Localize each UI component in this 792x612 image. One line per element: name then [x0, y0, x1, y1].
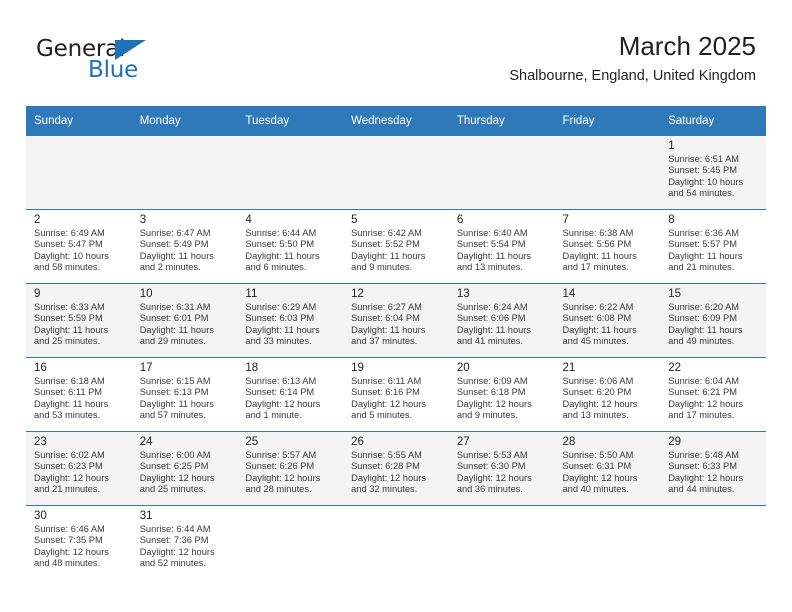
- day-sun-info: Sunrise: 6:22 AMSunset: 6:08 PMDaylight:…: [563, 302, 655, 348]
- sunrise-time: Sunrise: 6:46 AM: [34, 524, 126, 535]
- day-number: 6: [457, 213, 549, 227]
- sunset-time: Sunset: 6:21 PM: [668, 387, 760, 398]
- calendar-day-cell[interactable]: 27Sunrise: 5:53 AMSunset: 6:30 PMDayligh…: [449, 432, 555, 506]
- daylight-duration-line1: Daylight: 11 hours: [563, 251, 655, 262]
- day-cell-content: 22Sunrise: 6:04 AMSunset: 6:21 PMDayligh…: [660, 358, 766, 428]
- calendar-day-cell: [449, 506, 555, 580]
- day-sun-info: Sunrise: 6:27 AMSunset: 6:04 PMDaylight:…: [351, 302, 443, 348]
- daylight-duration-line2: and 49 minutes.: [668, 336, 760, 347]
- day-cell-content: 13Sunrise: 6:24 AMSunset: 6:06 PMDayligh…: [449, 284, 555, 354]
- sunset-time: Sunset: 6:30 PM: [457, 461, 549, 472]
- sunrise-time: Sunrise: 6:09 AM: [457, 376, 549, 387]
- day-sun-info: Sunrise: 6:33 AMSunset: 5:59 PMDaylight:…: [34, 302, 126, 348]
- day-cell-content: 23Sunrise: 6:02 AMSunset: 6:23 PMDayligh…: [26, 432, 132, 502]
- weekday-header-sunday: Sunday: [26, 106, 132, 136]
- daylight-duration-line1: Daylight: 11 hours: [140, 251, 232, 262]
- daylight-duration-line1: Daylight: 12 hours: [245, 473, 337, 484]
- calendar-table: Sunday Monday Tuesday Wednesday Thursday…: [26, 106, 766, 579]
- calendar-day-cell[interactable]: 12Sunrise: 6:27 AMSunset: 6:04 PMDayligh…: [343, 284, 449, 358]
- sunrise-time: Sunrise: 6:44 AM: [245, 228, 337, 239]
- sunrise-time: Sunrise: 6:31 AM: [140, 302, 232, 313]
- day-sun-info: Sunrise: 5:50 AMSunset: 6:31 PMDaylight:…: [563, 450, 655, 496]
- sunset-time: Sunset: 5:50 PM: [245, 239, 337, 250]
- day-cell-content: 29Sunrise: 5:48 AMSunset: 6:33 PMDayligh…: [660, 432, 766, 502]
- day-sun-info: Sunrise: 6:04 AMSunset: 6:21 PMDaylight:…: [668, 376, 760, 422]
- day-number: 26: [351, 435, 443, 449]
- day-number: 13: [457, 287, 549, 301]
- calendar-day-cell[interactable]: 5Sunrise: 6:42 AMSunset: 5:52 PMDaylight…: [343, 210, 449, 284]
- sunrise-time: Sunrise: 6:29 AM: [245, 302, 337, 313]
- daylight-duration-line2: and 36 minutes.: [457, 484, 549, 495]
- daylight-duration-line2: and 25 minutes.: [140, 484, 232, 495]
- sunrise-time: Sunrise: 6:42 AM: [351, 228, 443, 239]
- sunrise-time: Sunrise: 5:50 AM: [563, 450, 655, 461]
- day-number: 5: [351, 213, 443, 227]
- day-number: 18: [245, 361, 337, 375]
- sunrise-time: Sunrise: 6:20 AM: [668, 302, 760, 313]
- day-sun-info: Sunrise: 5:53 AMSunset: 6:30 PMDaylight:…: [457, 450, 549, 496]
- daylight-duration-line2: and 33 minutes.: [245, 336, 337, 347]
- sunset-time: Sunset: 6:23 PM: [34, 461, 126, 472]
- sunrise-time: Sunrise: 6:24 AM: [457, 302, 549, 313]
- day-sun-info: Sunrise: 6:46 AMSunset: 7:35 PMDaylight:…: [34, 524, 126, 570]
- sunrise-time: Sunrise: 6:00 AM: [140, 450, 232, 461]
- sunrise-time: Sunrise: 6:49 AM: [34, 228, 126, 239]
- day-number: 19: [351, 361, 443, 375]
- calendar-day-cell[interactable]: 19Sunrise: 6:11 AMSunset: 6:16 PMDayligh…: [343, 358, 449, 432]
- day-cell-content: [237, 506, 343, 576]
- day-cell-content: [660, 506, 766, 576]
- sunset-time: Sunset: 6:16 PM: [351, 387, 443, 398]
- calendar-week-row: 16Sunrise: 6:18 AMSunset: 6:11 PMDayligh…: [26, 358, 766, 432]
- day-number: 2: [34, 213, 126, 227]
- day-cell-content: [237, 136, 343, 206]
- calendar-day-cell[interactable]: 6Sunrise: 6:40 AMSunset: 5:54 PMDaylight…: [449, 210, 555, 284]
- day-cell-content: 20Sunrise: 6:09 AMSunset: 6:18 PMDayligh…: [449, 358, 555, 428]
- day-cell-content: 5Sunrise: 6:42 AMSunset: 5:52 PMDaylight…: [343, 210, 449, 280]
- weekday-header-saturday: Saturday: [660, 106, 766, 136]
- sunrise-time: Sunrise: 6:11 AM: [351, 376, 443, 387]
- day-sun-info: Sunrise: 6:00 AMSunset: 6:25 PMDaylight:…: [140, 450, 232, 496]
- day-cell-content: [449, 506, 555, 576]
- title-block: March 2025 Shalbourne, England, United K…: [509, 30, 756, 86]
- day-sun-info: Sunrise: 6:40 AMSunset: 5:54 PMDaylight:…: [457, 228, 549, 274]
- sunrise-time: Sunrise: 5:53 AM: [457, 450, 549, 461]
- sunrise-time: Sunrise: 6:22 AM: [563, 302, 655, 313]
- page-header: General Blue March 2025 Shalbourne, Engl…: [0, 0, 792, 105]
- day-cell-content: 15Sunrise: 6:20 AMSunset: 6:09 PMDayligh…: [660, 284, 766, 354]
- day-sun-info: Sunrise: 5:48 AMSunset: 6:33 PMDaylight:…: [668, 450, 760, 496]
- calendar-day-cell: [237, 506, 343, 580]
- day-cell-content: 3Sunrise: 6:47 AMSunset: 5:49 PMDaylight…: [132, 210, 238, 280]
- daylight-duration-line1: Daylight: 11 hours: [668, 325, 760, 336]
- day-cell-content: [449, 136, 555, 206]
- calendar-day-cell[interactable]: 1Sunrise: 6:51 AMSunset: 5:45 PMDaylight…: [660, 136, 766, 210]
- calendar-day-cell[interactable]: 24Sunrise: 6:00 AMSunset: 6:25 PMDayligh…: [132, 432, 238, 506]
- day-number: 8: [668, 213, 760, 227]
- sunset-time: Sunset: 6:33 PM: [668, 461, 760, 472]
- calendar-day-cell[interactable]: 14Sunrise: 6:22 AMSunset: 6:08 PMDayligh…: [555, 284, 661, 358]
- day-sun-info: Sunrise: 6:47 AMSunset: 5:49 PMDaylight:…: [140, 228, 232, 274]
- calendar-day-cell[interactable]: 11Sunrise: 6:29 AMSunset: 6:03 PMDayligh…: [237, 284, 343, 358]
- calendar-day-cell[interactable]: 15Sunrise: 6:20 AMSunset: 6:09 PMDayligh…: [660, 284, 766, 358]
- calendar-day-cell[interactable]: 31Sunrise: 6:44 AMSunset: 7:36 PMDayligh…: [132, 506, 238, 580]
- daylight-duration-line1: Daylight: 12 hours: [668, 473, 760, 484]
- day-sun-info: Sunrise: 6:49 AMSunset: 5:47 PMDaylight:…: [34, 228, 126, 274]
- daylight-duration-line1: Daylight: 11 hours: [457, 251, 549, 262]
- daylight-duration-line2: and 58 minutes.: [34, 262, 126, 273]
- daylight-duration-line1: Daylight: 11 hours: [34, 325, 126, 336]
- day-sun-info: Sunrise: 6:51 AMSunset: 5:45 PMDaylight:…: [668, 154, 760, 200]
- day-sun-info: Sunrise: 6:24 AMSunset: 6:06 PMDaylight:…: [457, 302, 549, 348]
- sunrise-time: Sunrise: 6:40 AM: [457, 228, 549, 239]
- day-cell-content: [555, 136, 661, 206]
- daylight-duration-line2: and 21 minutes.: [668, 262, 760, 273]
- calendar-day-cell[interactable]: 16Sunrise: 6:18 AMSunset: 6:11 PMDayligh…: [26, 358, 132, 432]
- day-number: 15: [668, 287, 760, 301]
- calendar-week-row: 23Sunrise: 6:02 AMSunset: 6:23 PMDayligh…: [26, 432, 766, 506]
- sunset-time: Sunset: 6:28 PM: [351, 461, 443, 472]
- day-cell-content: 1Sunrise: 6:51 AMSunset: 5:45 PMDaylight…: [660, 136, 766, 206]
- calendar-day-cell[interactable]: 3Sunrise: 6:47 AMSunset: 5:49 PMDaylight…: [132, 210, 238, 284]
- day-number: 9: [34, 287, 126, 301]
- day-sun-info: Sunrise: 6:31 AMSunset: 6:01 PMDaylight:…: [140, 302, 232, 348]
- daylight-duration-line2: and 37 minutes.: [351, 336, 443, 347]
- daylight-duration-line1: Daylight: 12 hours: [140, 547, 232, 558]
- calendar-day-cell[interactable]: 25Sunrise: 5:57 AMSunset: 6:26 PMDayligh…: [237, 432, 343, 506]
- day-cell-content: 11Sunrise: 6:29 AMSunset: 6:03 PMDayligh…: [237, 284, 343, 354]
- daylight-duration-line1: Daylight: 11 hours: [563, 325, 655, 336]
- calendar-day-cell[interactable]: 9Sunrise: 6:33 AMSunset: 5:59 PMDaylight…: [26, 284, 132, 358]
- daylight-duration-line2: and 52 minutes.: [140, 558, 232, 569]
- calendar-page: General Blue March 2025 Shalbourne, Engl…: [0, 0, 792, 612]
- daylight-duration-line2: and 28 minutes.: [245, 484, 337, 495]
- daylight-duration-line2: and 54 minutes.: [668, 188, 760, 199]
- calendar-day-cell[interactable]: 21Sunrise: 6:06 AMSunset: 6:20 PMDayligh…: [555, 358, 661, 432]
- daylight-duration-line1: Daylight: 11 hours: [245, 251, 337, 262]
- day-cell-content: 7Sunrise: 6:38 AMSunset: 5:56 PMDaylight…: [555, 210, 661, 280]
- daylight-duration-line1: Daylight: 12 hours: [351, 399, 443, 410]
- calendar-day-cell[interactable]: 13Sunrise: 6:24 AMSunset: 6:06 PMDayligh…: [449, 284, 555, 358]
- day-sun-info: Sunrise: 6:02 AMSunset: 6:23 PMDaylight:…: [34, 450, 126, 496]
- day-number: 16: [34, 361, 126, 375]
- calendar-day-cell: [555, 506, 661, 580]
- day-sun-info: Sunrise: 6:18 AMSunset: 6:11 PMDaylight:…: [34, 376, 126, 422]
- daylight-duration-line2: and 29 minutes.: [140, 336, 232, 347]
- day-number: 3: [140, 213, 232, 227]
- day-cell-content: 9Sunrise: 6:33 AMSunset: 5:59 PMDaylight…: [26, 284, 132, 354]
- day-sun-info: Sunrise: 6:44 AMSunset: 5:50 PMDaylight:…: [245, 228, 337, 274]
- daylight-duration-line2: and 40 minutes.: [563, 484, 655, 495]
- calendar-day-cell[interactable]: 8Sunrise: 6:36 AMSunset: 5:57 PMDaylight…: [660, 210, 766, 284]
- day-cell-content: 14Sunrise: 6:22 AMSunset: 6:08 PMDayligh…: [555, 284, 661, 354]
- daylight-duration-line1: Daylight: 10 hours: [668, 177, 760, 188]
- weekday-header-tuesday: Tuesday: [237, 106, 343, 136]
- calendar-day-cell[interactable]: 2Sunrise: 6:49 AMSunset: 5:47 PMDaylight…: [26, 210, 132, 284]
- day-cell-content: 2Sunrise: 6:49 AMSunset: 5:47 PMDaylight…: [26, 210, 132, 280]
- daylight-duration-line2: and 53 minutes.: [34, 410, 126, 421]
- day-sun-info: Sunrise: 6:44 AMSunset: 7:36 PMDaylight:…: [140, 524, 232, 570]
- calendar-day-cell[interactable]: 26Sunrise: 5:55 AMSunset: 6:28 PMDayligh…: [343, 432, 449, 506]
- calendar-day-cell: [555, 136, 661, 210]
- day-sun-info: Sunrise: 6:09 AMSunset: 6:18 PMDaylight:…: [457, 376, 549, 422]
- daylight-duration-line1: Daylight: 12 hours: [563, 473, 655, 484]
- daylight-duration-line1: Daylight: 12 hours: [245, 399, 337, 410]
- daylight-duration-line2: and 1 minute.: [245, 410, 337, 421]
- day-sun-info: Sunrise: 6:38 AMSunset: 5:56 PMDaylight:…: [563, 228, 655, 274]
- day-cell-content: 30Sunrise: 6:46 AMSunset: 7:35 PMDayligh…: [26, 506, 132, 576]
- sunset-time: Sunset: 6:20 PM: [563, 387, 655, 398]
- day-cell-content: 31Sunrise: 6:44 AMSunset: 7:36 PMDayligh…: [132, 506, 238, 576]
- day-cell-content: [343, 136, 449, 206]
- daylight-duration-line1: Daylight: 12 hours: [457, 473, 549, 484]
- daylight-duration-line2: and 13 minutes.: [563, 410, 655, 421]
- calendar-week-row: 30Sunrise: 6:46 AMSunset: 7:35 PMDayligh…: [26, 506, 766, 580]
- daylight-duration-line2: and 25 minutes.: [34, 336, 126, 347]
- daylight-duration-line2: and 21 minutes.: [34, 484, 126, 495]
- sunset-time: Sunset: 7:35 PM: [34, 535, 126, 546]
- page-subtitle: Shalbourne, England, United Kingdom: [509, 66, 756, 86]
- sunset-time: Sunset: 5:59 PM: [34, 313, 126, 324]
- calendar-day-cell[interactable]: 30Sunrise: 6:46 AMSunset: 7:35 PMDayligh…: [26, 506, 132, 580]
- sunrise-time: Sunrise: 6:38 AM: [563, 228, 655, 239]
- sunset-time: Sunset: 6:03 PM: [245, 313, 337, 324]
- calendar-day-cell[interactable]: 10Sunrise: 6:31 AMSunset: 6:01 PMDayligh…: [132, 284, 238, 358]
- daylight-duration-line2: and 2 minutes.: [140, 262, 232, 273]
- day-sun-info: Sunrise: 5:55 AMSunset: 6:28 PMDaylight:…: [351, 450, 443, 496]
- daylight-duration-line2: and 44 minutes.: [668, 484, 760, 495]
- sunrise-time: Sunrise: 6:27 AM: [351, 302, 443, 313]
- sunset-time: Sunset: 5:47 PM: [34, 239, 126, 250]
- day-number: 7: [563, 213, 655, 227]
- day-number: 12: [351, 287, 443, 301]
- day-number: 4: [245, 213, 337, 227]
- daylight-duration-line2: and 41 minutes.: [457, 336, 549, 347]
- daylight-duration-line2: and 9 minutes.: [351, 262, 443, 273]
- weekday-header-wednesday: Wednesday: [343, 106, 449, 136]
- day-cell-content: 10Sunrise: 6:31 AMSunset: 6:01 PMDayligh…: [132, 284, 238, 354]
- day-number: 14: [563, 287, 655, 301]
- daylight-duration-line2: and 9 minutes.: [457, 410, 549, 421]
- sunset-time: Sunset: 6:06 PM: [457, 313, 549, 324]
- weekday-header-friday: Friday: [555, 106, 661, 136]
- day-number: 23: [34, 435, 126, 449]
- calendar-day-cell: [237, 136, 343, 210]
- day-number: 22: [668, 361, 760, 375]
- calendar-day-cell: [343, 506, 449, 580]
- day-sun-info: Sunrise: 6:06 AMSunset: 6:20 PMDaylight:…: [563, 376, 655, 422]
- sunrise-time: Sunrise: 5:55 AM: [351, 450, 443, 461]
- day-number: 1: [668, 139, 760, 153]
- sunset-time: Sunset: 6:13 PM: [140, 387, 232, 398]
- general-blue-logo[interactable]: General Blue: [36, 36, 176, 90]
- day-cell-content: 18Sunrise: 6:13 AMSunset: 6:14 PMDayligh…: [237, 358, 343, 428]
- daylight-duration-line2: and 17 minutes.: [563, 262, 655, 273]
- day-cell-content: 12Sunrise: 6:27 AMSunset: 6:04 PMDayligh…: [343, 284, 449, 354]
- sunrise-time: Sunrise: 6:33 AM: [34, 302, 126, 313]
- sunset-time: Sunset: 5:54 PM: [457, 239, 549, 250]
- calendar-day-cell[interactable]: 22Sunrise: 6:04 AMSunset: 6:21 PMDayligh…: [660, 358, 766, 432]
- calendar-body: 1Sunrise: 6:51 AMSunset: 5:45 PMDaylight…: [26, 136, 766, 580]
- day-number: 17: [140, 361, 232, 375]
- calendar-week-row: 9Sunrise: 6:33 AMSunset: 5:59 PMDaylight…: [26, 284, 766, 358]
- day-cell-content: 21Sunrise: 6:06 AMSunset: 6:20 PMDayligh…: [555, 358, 661, 428]
- sunset-time: Sunset: 7:36 PM: [140, 535, 232, 546]
- sunset-time: Sunset: 5:45 PM: [668, 165, 760, 176]
- sunset-time: Sunset: 6:31 PM: [563, 461, 655, 472]
- daylight-duration-line1: Daylight: 10 hours: [34, 251, 126, 262]
- daylight-duration-line2: and 32 minutes.: [351, 484, 443, 495]
- daylight-duration-line1: Daylight: 11 hours: [351, 325, 443, 336]
- daylight-duration-line1: Daylight: 11 hours: [34, 399, 126, 410]
- calendar-week-row: 2Sunrise: 6:49 AMSunset: 5:47 PMDaylight…: [26, 210, 766, 284]
- day-sun-info: Sunrise: 6:20 AMSunset: 6:09 PMDaylight:…: [668, 302, 760, 348]
- sunrise-time: Sunrise: 6:04 AM: [668, 376, 760, 387]
- sunrise-time: Sunrise: 5:57 AM: [245, 450, 337, 461]
- daylight-duration-line1: Daylight: 11 hours: [668, 251, 760, 262]
- sunset-time: Sunset: 6:14 PM: [245, 387, 337, 398]
- day-cell-content: 19Sunrise: 6:11 AMSunset: 6:16 PMDayligh…: [343, 358, 449, 428]
- calendar-day-cell: [132, 136, 238, 210]
- daylight-duration-line2: and 57 minutes.: [140, 410, 232, 421]
- calendar-day-cell[interactable]: 18Sunrise: 6:13 AMSunset: 6:14 PMDayligh…: [237, 358, 343, 432]
- sunrise-time: Sunrise: 6:02 AM: [34, 450, 126, 461]
- day-cell-content: [26, 136, 132, 206]
- sunset-time: Sunset: 6:18 PM: [457, 387, 549, 398]
- day-number: 25: [245, 435, 337, 449]
- sunrise-time: Sunrise: 6:18 AM: [34, 376, 126, 387]
- day-sun-info: Sunrise: 6:36 AMSunset: 5:57 PMDaylight:…: [668, 228, 760, 274]
- day-number: 27: [457, 435, 549, 449]
- calendar-day-cell: [26, 136, 132, 210]
- day-sun-info: Sunrise: 6:15 AMSunset: 6:13 PMDaylight:…: [140, 376, 232, 422]
- sunset-time: Sunset: 5:56 PM: [563, 239, 655, 250]
- daylight-duration-line1: Daylight: 11 hours: [457, 325, 549, 336]
- day-number: 24: [140, 435, 232, 449]
- sunrise-time: Sunrise: 6:44 AM: [140, 524, 232, 535]
- daylight-duration-line2: and 48 minutes.: [34, 558, 126, 569]
- sunset-time: Sunset: 6:08 PM: [563, 313, 655, 324]
- calendar-day-cell: [343, 136, 449, 210]
- sunset-time: Sunset: 6:09 PM: [668, 313, 760, 324]
- daylight-duration-line1: Daylight: 12 hours: [563, 399, 655, 410]
- sunset-time: Sunset: 5:52 PM: [351, 239, 443, 250]
- day-number: 29: [668, 435, 760, 449]
- day-sun-info: Sunrise: 6:13 AMSunset: 6:14 PMDaylight:…: [245, 376, 337, 422]
- sunrise-time: Sunrise: 5:48 AM: [668, 450, 760, 461]
- daylight-duration-line1: Daylight: 12 hours: [140, 473, 232, 484]
- sunrise-time: Sunrise: 6:51 AM: [668, 154, 760, 165]
- sunset-time: Sunset: 5:49 PM: [140, 239, 232, 250]
- sunset-time: Sunset: 6:26 PM: [245, 461, 337, 472]
- day-cell-content: 16Sunrise: 6:18 AMSunset: 6:11 PMDayligh…: [26, 358, 132, 428]
- day-number: 31: [140, 509, 232, 523]
- daylight-duration-line1: Daylight: 11 hours: [245, 325, 337, 336]
- day-number: 28: [563, 435, 655, 449]
- calendar-day-cell[interactable]: 23Sunrise: 6:02 AMSunset: 6:23 PMDayligh…: [26, 432, 132, 506]
- day-cell-content: [555, 506, 661, 576]
- day-cell-content: 24Sunrise: 6:00 AMSunset: 6:25 PMDayligh…: [132, 432, 238, 502]
- daylight-duration-line1: Daylight: 11 hours: [140, 325, 232, 336]
- daylight-duration-line1: Daylight: 12 hours: [351, 473, 443, 484]
- day-cell-content: 28Sunrise: 5:50 AMSunset: 6:31 PMDayligh…: [555, 432, 661, 502]
- calendar-day-cell[interactable]: 17Sunrise: 6:15 AMSunset: 6:13 PMDayligh…: [132, 358, 238, 432]
- calendar-day-cell[interactable]: 28Sunrise: 5:50 AMSunset: 6:31 PMDayligh…: [555, 432, 661, 506]
- day-number: 21: [563, 361, 655, 375]
- day-number: 20: [457, 361, 549, 375]
- sunrise-time: Sunrise: 6:36 AM: [668, 228, 760, 239]
- daylight-duration-line1: Daylight: 12 hours: [668, 399, 760, 410]
- day-number: 10: [140, 287, 232, 301]
- day-cell-content: 27Sunrise: 5:53 AMSunset: 6:30 PMDayligh…: [449, 432, 555, 502]
- day-cell-content: 17Sunrise: 6:15 AMSunset: 6:13 PMDayligh…: [132, 358, 238, 428]
- calendar-day-cell: [660, 506, 766, 580]
- sunrise-time: Sunrise: 6:13 AM: [245, 376, 337, 387]
- calendar-day-cell[interactable]: 29Sunrise: 5:48 AMSunset: 6:33 PMDayligh…: [660, 432, 766, 506]
- logo-text-blue: Blue: [88, 57, 138, 83]
- sunset-time: Sunset: 5:57 PM: [668, 239, 760, 250]
- day-cell-content: 26Sunrise: 5:55 AMSunset: 6:28 PMDayligh…: [343, 432, 449, 502]
- sunset-time: Sunset: 6:25 PM: [140, 461, 232, 472]
- sunrise-time: Sunrise: 6:47 AM: [140, 228, 232, 239]
- day-cell-content: [132, 136, 238, 206]
- daylight-duration-line2: and 6 minutes.: [245, 262, 337, 273]
- day-sun-info: Sunrise: 5:57 AMSunset: 6:26 PMDaylight:…: [245, 450, 337, 496]
- daylight-duration-line1: Daylight: 11 hours: [351, 251, 443, 262]
- calendar-day-cell[interactable]: 20Sunrise: 6:09 AMSunset: 6:18 PMDayligh…: [449, 358, 555, 432]
- sunset-time: Sunset: 6:04 PM: [351, 313, 443, 324]
- day-number: 30: [34, 509, 126, 523]
- day-number: 11: [245, 287, 337, 301]
- daylight-duration-line1: Daylight: 12 hours: [34, 547, 126, 558]
- daylight-duration-line2: and 17 minutes.: [668, 410, 760, 421]
- weekday-header-monday: Monday: [132, 106, 238, 136]
- day-cell-content: 4Sunrise: 6:44 AMSunset: 5:50 PMDaylight…: [237, 210, 343, 280]
- day-sun-info: Sunrise: 6:11 AMSunset: 6:16 PMDaylight:…: [351, 376, 443, 422]
- day-cell-content: 6Sunrise: 6:40 AMSunset: 5:54 PMDaylight…: [449, 210, 555, 280]
- sunset-time: Sunset: 6:01 PM: [140, 313, 232, 324]
- calendar-header-row: Sunday Monday Tuesday Wednesday Thursday…: [26, 106, 766, 136]
- daylight-duration-line1: Daylight: 11 hours: [140, 399, 232, 410]
- sunrise-time: Sunrise: 6:06 AM: [563, 376, 655, 387]
- calendar-day-cell[interactable]: 7Sunrise: 6:38 AMSunset: 5:56 PMDaylight…: [555, 210, 661, 284]
- weekday-header-thursday: Thursday: [449, 106, 555, 136]
- day-sun-info: Sunrise: 6:29 AMSunset: 6:03 PMDaylight:…: [245, 302, 337, 348]
- calendar-week-row: 1Sunrise: 6:51 AMSunset: 5:45 PMDaylight…: [26, 136, 766, 210]
- sunset-time: Sunset: 6:11 PM: [34, 387, 126, 398]
- daylight-duration-line1: Daylight: 12 hours: [457, 399, 549, 410]
- day-sun-info: Sunrise: 6:42 AMSunset: 5:52 PMDaylight:…: [351, 228, 443, 274]
- daylight-duration-line2: and 13 minutes.: [457, 262, 549, 273]
- sunrise-time: Sunrise: 6:15 AM: [140, 376, 232, 387]
- day-cell-content: 8Sunrise: 6:36 AMSunset: 5:57 PMDaylight…: [660, 210, 766, 280]
- calendar-day-cell: [449, 136, 555, 210]
- daylight-duration-line1: Daylight: 12 hours: [34, 473, 126, 484]
- page-title: March 2025: [509, 30, 756, 62]
- calendar-day-cell[interactable]: 4Sunrise: 6:44 AMSunset: 5:50 PMDaylight…: [237, 210, 343, 284]
- daylight-duration-line2: and 5 minutes.: [351, 410, 443, 421]
- daylight-duration-line2: and 45 minutes.: [563, 336, 655, 347]
- day-cell-content: [343, 506, 449, 576]
- day-cell-content: 25Sunrise: 5:57 AMSunset: 6:26 PMDayligh…: [237, 432, 343, 502]
